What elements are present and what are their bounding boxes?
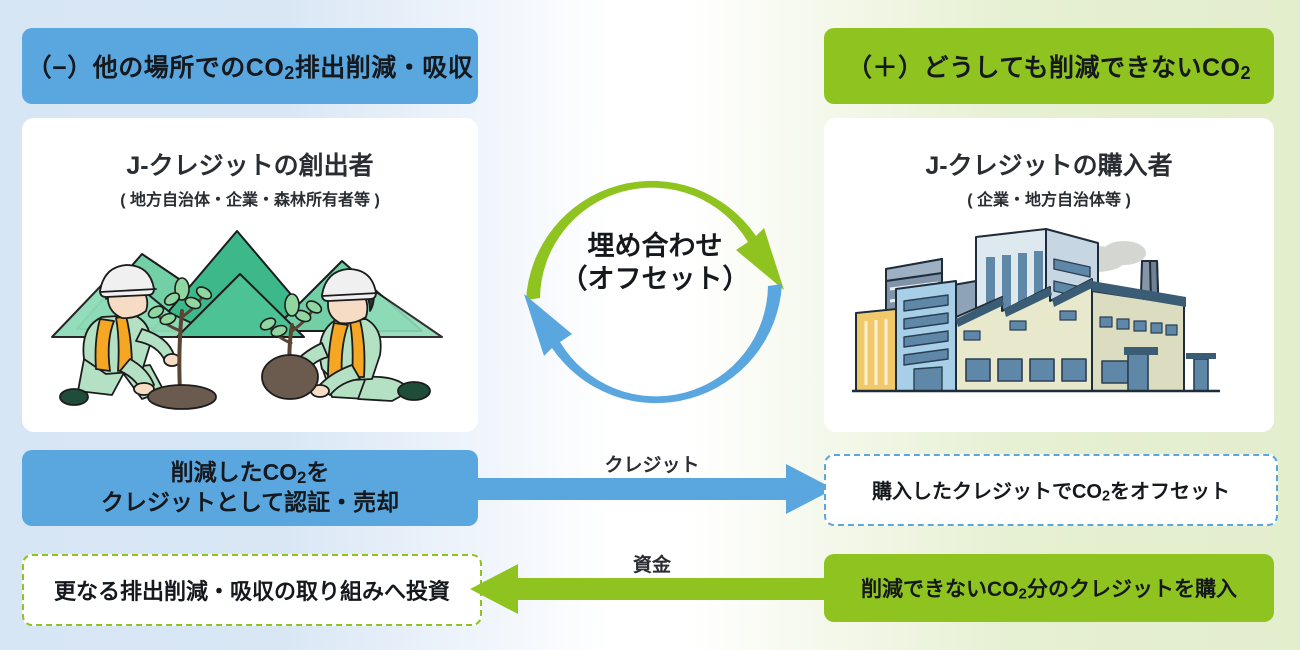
infographic-canvas: （−）他の場所でのCO2排出削減・吸収 （＋）どうしても削減できないCO2 J-… xyxy=(0,0,1300,650)
card-credit-creator: J-クレジットの創出者 ( 地方自治体・企業・森林所有者等 ) xyxy=(22,118,478,432)
header-pill-reduction: （−）他の場所でのCO2排出削減・吸収 xyxy=(22,28,478,104)
header-left-text: （−）他の場所でのCO2排出削減・吸収 xyxy=(27,48,474,84)
box-reinvest-reduction: 更なる排出削減・吸収の取り組みへ投資 xyxy=(22,554,482,626)
factory-illustration xyxy=(824,219,1274,424)
card-left-title: J-クレジットの創出者 xyxy=(22,146,478,182)
card-right-subtitle: ( 企業・地方自治体等 ) xyxy=(824,186,1274,210)
tree-planting-illustration xyxy=(22,219,478,424)
box-offset-with-credit: 購入したクレジットでCO2をオフセット xyxy=(824,454,1278,526)
header-right-text: （＋）どうしても削減できないCO2 xyxy=(847,48,1251,84)
card-credit-buyer: J-クレジットの購入者 ( 企業・地方自治体等 ) xyxy=(824,118,1274,432)
box-credit-certify-sell-text: 削減したCO2をクレジットとして認証・売却 xyxy=(101,458,399,518)
box-offset-with-credit-text: 購入したクレジットでCO2をオフセット xyxy=(872,475,1230,505)
box-purchase-credit-text: 削減できないCO2分のクレジットを購入 xyxy=(861,573,1237,603)
card-right-title: J-クレジットの購入者 xyxy=(824,146,1274,182)
box-purchase-credit: 削減できないCO2分のクレジットを購入 xyxy=(824,554,1274,622)
box-reinvest-reduction-text: 更なる排出削減・吸収の取り組みへ投資 xyxy=(54,574,450,606)
header-pill-unavoidable: （＋）どうしても削減できないCO2 xyxy=(824,28,1274,104)
cycle-arrow-blue xyxy=(524,284,782,403)
cycle-arrow-green xyxy=(526,181,784,300)
card-left-subtitle: ( 地方自治体・企業・森林所有者等 ) xyxy=(22,186,478,210)
arrow-credit-right xyxy=(470,462,834,516)
box-credit-certify-sell: 削減したCO2をクレジットとして認証・売却 xyxy=(22,450,478,526)
arrow-funds-left xyxy=(470,562,834,616)
offset-cycle-arrows xyxy=(500,150,810,430)
